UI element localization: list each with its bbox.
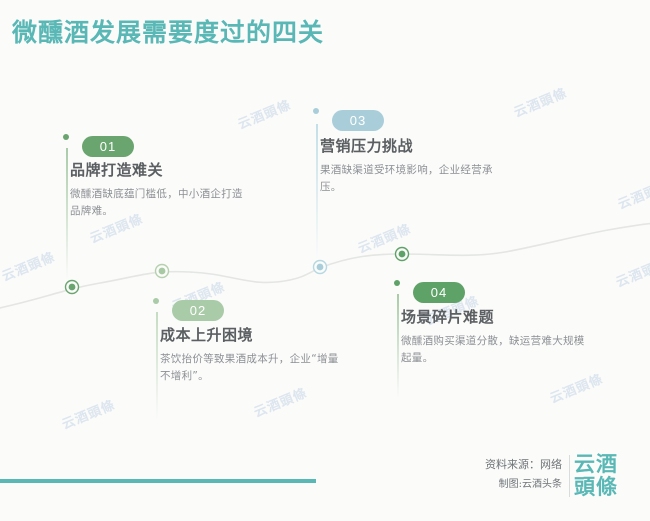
item-02-number-badge: 02: [172, 300, 224, 321]
item-04-connector-line: [397, 294, 399, 398]
item-03-connector-line: [316, 124, 318, 260]
footer-accent-bar: [0, 479, 316, 483]
item-02-connector-line: [156, 312, 158, 420]
item-02-heading: 成本上升困境: [160, 325, 253, 345]
item-01-body-text: 微醺酒缺底蕴门槛低，中小酒企打造品牌难。: [70, 186, 246, 220]
item-03-number-badge: 03: [332, 110, 384, 131]
item-01-number-badge: 01: [82, 136, 134, 157]
item-01-heading: 品牌打造难关: [70, 160, 163, 180]
item-04-number-badge: 04: [413, 282, 465, 303]
item-01-bullet-dot: [63, 134, 69, 140]
item-04-body-text: 微醺酒购买渠道分散，缺运营难大规模起量。: [401, 333, 587, 367]
node-04[interactable]: [399, 251, 406, 258]
item-02-bullet-dot: [153, 298, 159, 304]
item-03-bullet-dot: [313, 108, 319, 114]
logo-line-1: 云酒: [574, 452, 642, 475]
brand-logo: 云酒 頭條: [574, 452, 642, 498]
footer-credits: 资料来源：网络 制图:云酒头条: [485, 455, 562, 495]
item-03-body-text: 果酒缺渠道受环境影响，企业经营承压。: [320, 162, 504, 196]
infographic-canvas: 云酒頭條云酒頭條云酒頭條云酒頭條云酒頭條云酒頭條云酒頭條云酒頭條云酒頭條云酒頭條…: [0, 0, 650, 521]
item-04-bullet-dot: [394, 280, 400, 286]
logo-line-2: 頭條: [574, 475, 642, 498]
credit-label: 制图:云酒头条: [485, 475, 562, 495]
node-01[interactable]: [69, 284, 76, 291]
item-04-heading: 场景碎片难题: [401, 307, 494, 327]
footer-divider: [569, 455, 570, 497]
timeline-curve: [0, 0, 650, 521]
item-02-body-text: 茶饮抬价等致果酒成本升，企业“增量不增利”。: [160, 351, 342, 385]
source-label: 资料来源：网络: [485, 455, 562, 475]
node-02[interactable]: [159, 268, 166, 275]
node-03[interactable]: [317, 264, 324, 271]
item-03-heading: 营销压力挑战: [320, 136, 413, 156]
item-01-connector-line: [66, 148, 68, 280]
